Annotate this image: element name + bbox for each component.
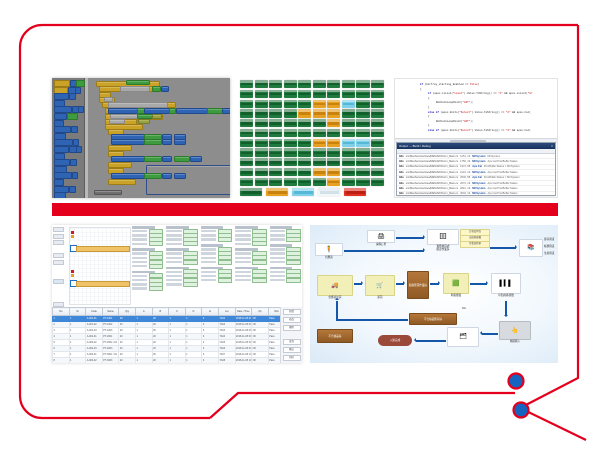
designer-canvas[interactable] — [69, 227, 131, 305]
log-row-list[interactable]: Infosrc/MesService/Area/MES/API/Form_Mai… — [397, 154, 555, 197]
status-cell[interactable] — [313, 100, 326, 108]
flow-diagram-panel[interactable]: 🖨 採購訂單 🧍 供應商 🗄 實際收貨處 確認作業區 訂單及時性 出貨單建檔 作… — [310, 225, 558, 363]
log-code: MCSystem — [472, 192, 485, 195]
status-cell[interactable] — [313, 139, 326, 147]
status-cell[interactable] — [313, 129, 326, 137]
log-tag: Info — [399, 171, 404, 174]
status-cell[interactable] — [327, 168, 340, 176]
status-grid-row — [240, 109, 384, 117]
log-code: Apx.Cal — [472, 165, 482, 168]
status-cell[interactable] — [298, 168, 311, 176]
status-cell[interactable] — [342, 119, 355, 127]
status-grid-row — [240, 178, 384, 186]
log-tag: Info — [399, 192, 404, 195]
log-line: 1251, 19 — [460, 155, 470, 158]
arrowhead-icon — [480, 331, 482, 335]
desk-icon: 🗄 — [439, 234, 447, 240]
table-cell[interactable]: 1 — [185, 358, 202, 364]
table-header-cell[interactable]: Name — [102, 308, 119, 316]
table-header-cell[interactable]: St — [69, 308, 86, 316]
status-cell[interactable] — [371, 139, 384, 147]
status-cell[interactable] — [342, 80, 355, 88]
log-message: Apx.Cal.ProcBuffer.Status — [487, 192, 517, 195]
table-cell[interactable]: 1 — [169, 358, 186, 364]
log-path: src/MesService/Area/MES/API/Form_Main.cs — [406, 176, 458, 179]
table-header-cell[interactable]: No — [53, 308, 70, 316]
content-plate: if (bertray_starting_Enabled == false) {… — [52, 75, 558, 365]
arrow-order-to-receiving — [396, 237, 424, 239]
status-cell[interactable] — [327, 119, 340, 127]
status-cell[interactable] — [313, 168, 326, 176]
status-cell[interactable] — [356, 109, 369, 117]
log-line: 2121, 19 — [460, 171, 470, 174]
close-icon[interactable]: ✕ — [551, 145, 553, 148]
designer-toolbar[interactable] — [53, 227, 67, 305]
table-cell[interactable]: A-003-02 — [86, 358, 103, 364]
status-cell[interactable] — [371, 148, 384, 156]
log-path: src/MesService/Area/MES/API/Form_Main.cs — [406, 160, 458, 163]
status-cell[interactable] — [284, 158, 297, 166]
table-header-cell[interactable]: C — [169, 308, 186, 316]
status-cell[interactable] — [255, 129, 268, 137]
status-cell[interactable] — [284, 129, 297, 137]
legend-chip-orange — [266, 188, 288, 196]
status-cell[interactable] — [298, 158, 311, 166]
log-tag: Info — [399, 155, 404, 158]
side-button[interactable]: 刪除 — [283, 325, 301, 331]
tray-icon: 🟩 — [452, 281, 459, 287]
arrow-receiving-to-erp — [490, 247, 516, 249]
blocks-canvas[interactable] — [88, 78, 230, 198]
node-label: 點收理貨作業區 — [409, 284, 427, 287]
side-button[interactable]: 列印 — [283, 355, 301, 361]
person-icon: 🧍 — [325, 247, 332, 253]
log-path: src/MesService/Area/MES/API/Form_Main.cs — [406, 187, 458, 190]
status-cell[interactable] — [327, 148, 340, 156]
status-cell[interactable] — [255, 168, 268, 176]
status-cell[interactable] — [342, 129, 355, 137]
status-cell[interactable] — [284, 80, 297, 88]
node-reject-area[interactable]: 不合格品暫存區 — [410, 313, 456, 325]
status-grid-row — [240, 90, 384, 98]
status-cell[interactable] — [342, 109, 355, 117]
log-path: src/MesService/Area/MES/API/Form_Main.cs — [406, 155, 458, 158]
status-cell[interactable] — [356, 168, 369, 176]
table-cell[interactable]: 0 — [202, 358, 219, 364]
frame-dot-lower — [514, 403, 529, 418]
log-message: Apx.Cal.ProcBuffer.Status — [487, 160, 517, 163]
status-cell[interactable] — [356, 139, 369, 147]
status-cell[interactable] — [356, 80, 369, 88]
status-cell[interactable] — [240, 139, 253, 147]
data-table[interactable]: NoStCodeNameQtyABCDELotDate / TimeOpRslt… — [52, 307, 302, 363]
status-cell[interactable] — [284, 178, 297, 186]
forklift-icon: 🛒 — [376, 283, 383, 289]
status-cell[interactable] — [342, 90, 355, 98]
log-tag: Info — [399, 182, 404, 185]
node-label: 不合格品區 — [329, 335, 342, 338]
node-label: 採購訂單 — [376, 243, 386, 246]
log-line: 1750, 19 — [460, 160, 470, 163]
status-cell[interactable] — [371, 158, 384, 166]
table-header-cell[interactable]: Code — [86, 308, 103, 316]
status-cell[interactable] — [342, 148, 355, 156]
log-path: src/MesService/Area/MES/API/Form_Main.cs — [406, 171, 458, 174]
status-cell[interactable] — [255, 90, 268, 98]
node-label: 供應商 — [325, 256, 333, 259]
status-cell[interactable] — [255, 119, 268, 127]
status-cell[interactable] — [356, 129, 369, 137]
blocks-palette[interactable] — [52, 78, 85, 198]
table-body[interactable]: 11A-001-01PT-1001201201107A012018-11-05 … — [53, 316, 302, 364]
node-qc[interactable]: 🟩 料盤檢驗 — [444, 273, 468, 297]
log-tag: Info — [399, 187, 404, 190]
status-cell[interactable] — [327, 100, 340, 108]
table-header-cell[interactable]: B — [152, 308, 169, 316]
data-grid[interactable]: NoStCodeNameQtyABCDELotDate / TimeOpRslt… — [52, 307, 302, 363]
log-line: 1974, 58 — [460, 165, 470, 168]
arrowhead-icon — [438, 281, 440, 285]
log-code: MCSystem — [472, 155, 485, 158]
status-cell[interactable] — [255, 139, 268, 147]
log-code: MCSystem — [472, 160, 485, 163]
status-cell[interactable] — [371, 80, 384, 88]
status-cell[interactable] — [327, 80, 340, 88]
grid-side-buttons[interactable]: 新增 修改 刪除 查詢 匯出 列印 — [280, 307, 302, 363]
status-cell[interactable] — [269, 80, 282, 88]
log-line: 2812, 19 — [460, 187, 470, 190]
status-cell[interactable] — [298, 148, 311, 156]
status-cell[interactable] — [313, 158, 326, 166]
status-grid-panel[interactable] — [238, 78, 386, 198]
arrow-scan-to-putaway — [482, 333, 498, 335]
log-code: MCSystem — [472, 182, 485, 185]
spreadsheet-panel[interactable]: NoStCodeNameQtyABCDELotDate / TimeOpRslt… — [52, 225, 302, 363]
table-cell[interactable]: PT-3003 — [102, 358, 119, 364]
truck-icon: 🚚 — [331, 283, 338, 289]
status-cell[interactable] — [269, 178, 282, 186]
status-cell[interactable] — [298, 129, 311, 137]
status-cell[interactable] — [298, 80, 311, 88]
status-grid-row — [240, 119, 384, 127]
node-barcode[interactable]: ▌▍▌ 印貼條碼標籤 — [492, 273, 520, 297]
table-header-cell[interactable]: D — [185, 308, 202, 316]
code-text-area[interactable]: if (bertray_starting_Enabled == false) {… — [395, 79, 557, 143]
side-button[interactable]: 匯出 — [283, 347, 301, 353]
table-cell[interactable]: 7A08 — [218, 358, 235, 364]
slide-canvas: if (bertray_starting_Enabled == false) {… — [0, 0, 600, 450]
status-cell[interactable] — [371, 100, 384, 108]
status-grid-row — [240, 129, 384, 137]
ng-label: NG — [462, 307, 466, 310]
arrow-rejectarea-to-left — [336, 319, 408, 321]
designer-property-columns[interactable] — [132, 226, 301, 305]
printer-icon: 🖨 — [377, 234, 385, 240]
status-cell[interactable] — [255, 109, 268, 117]
log-row[interactable]: Infosrc/MesService/Area/MES/API/Form_Mai… — [397, 192, 555, 197]
status-cell[interactable] — [313, 80, 326, 88]
arrowhead-icon — [515, 245, 517, 249]
hand-scan-icon: 👆 — [511, 328, 518, 334]
status-cell[interactable] — [371, 90, 384, 98]
log-message: Apx.Cal.ProcBuffer.Status — [487, 187, 517, 190]
status-cell[interactable] — [298, 109, 311, 117]
status-cell[interactable] — [356, 148, 369, 156]
code-editor-panel[interactable]: if (bertray_starting_Enabled == false) {… — [394, 78, 558, 198]
status-cell[interactable] — [356, 90, 369, 98]
node-label: 實際收貨處 確認作業區 — [437, 245, 450, 251]
status-cell[interactable] — [255, 158, 268, 166]
status-cell[interactable] — [240, 168, 253, 176]
arrow-supplier-to-receiving — [344, 250, 424, 252]
arrowhead-icon — [423, 235, 425, 239]
log-window-title: Output — Build / Debug — [399, 144, 431, 148]
arrowhead-icon — [335, 298, 339, 300]
table-header-cell[interactable]: Date / Time — [235, 308, 252, 316]
status-cell[interactable] — [371, 119, 384, 127]
status-cell[interactable] — [240, 178, 253, 186]
status-cell[interactable] — [371, 178, 384, 186]
status-cell[interactable] — [327, 109, 340, 117]
table-header-cell[interactable]: Lot — [218, 308, 235, 316]
table-cell[interactable]: 1 — [69, 358, 86, 364]
status-cell[interactable] — [313, 109, 326, 117]
table-header-cell[interactable]: E — [202, 308, 219, 316]
status-cell[interactable] — [284, 90, 297, 98]
log-message: MCSystem — [487, 155, 500, 158]
status-cell[interactable] — [284, 109, 297, 117]
log-message: Apx.Cal.ProcBuffer.Status — [487, 182, 517, 185]
side-button[interactable]: 查詢 — [283, 339, 301, 345]
status-cell[interactable] — [240, 109, 253, 117]
tag-right-1: 帳務資訊 — [544, 244, 554, 248]
status-cell[interactable] — [269, 129, 282, 137]
status-cell[interactable] — [255, 178, 268, 186]
status-cell[interactable] — [269, 148, 282, 156]
node-putaway[interactable]: 🗂 — [448, 327, 478, 347]
server-icon: 📚 — [527, 245, 534, 251]
node-scan[interactable]: 👆 條碼刷入 — [500, 321, 530, 343]
status-cell[interactable] — [284, 168, 297, 176]
status-cell[interactable] — [313, 119, 326, 127]
status-cell[interactable] — [313, 148, 326, 156]
node-label: 入庫完成 — [390, 339, 400, 342]
status-grid-legend — [240, 188, 366, 196]
arrow-putaway-to-done — [416, 340, 446, 342]
table-cell[interactable]: 20 — [119, 358, 136, 364]
status-grid-row — [240, 139, 384, 147]
side-button[interactable]: 修改 — [283, 317, 301, 323]
status-cell[interactable] — [240, 80, 253, 88]
status-cell[interactable] — [240, 158, 253, 166]
log-tag: Info — [399, 160, 404, 163]
log-window[interactable]: Output — Build / Debug ✕ Infosrc/MesServ… — [396, 142, 556, 196]
status-cell[interactable] — [269, 90, 282, 98]
legend-chip-green — [240, 188, 262, 196]
status-cell[interactable] — [255, 148, 268, 156]
table-header-cell[interactable]: Op — [252, 308, 269, 316]
log-line: 2673, 19 — [460, 182, 470, 185]
status-cell[interactable] — [356, 119, 369, 127]
log-message: ProcBuffer.Status = MCSystem — [484, 176, 520, 179]
status-grid-row — [240, 158, 384, 166]
log-path: src/MesService/Area/MES/API/Form_Main.cs — [406, 192, 458, 195]
arrowhead-icon — [504, 315, 508, 317]
log-message: Apx.Cal.ProcBuffer.Status — [487, 171, 517, 174]
status-cell[interactable] — [298, 178, 311, 186]
status-cell[interactable] — [327, 129, 340, 137]
status-grid-row — [240, 80, 384, 88]
status-cell[interactable] — [284, 100, 297, 108]
tag-right-2: 生產資訊 — [544, 251, 554, 255]
status-cell[interactable] — [327, 90, 340, 98]
status-cell[interactable] — [240, 90, 253, 98]
arrow-qc-to-barcode — [470, 283, 487, 285]
status-cell[interactable] — [255, 80, 268, 88]
status-cell[interactable] — [371, 109, 384, 117]
arrowhead-icon — [486, 281, 488, 285]
arrow-barcode-to-scan — [505, 301, 507, 316]
status-cell[interactable] — [356, 100, 369, 108]
status-grid-row — [240, 148, 384, 156]
status-cell[interactable] — [284, 148, 297, 156]
log-line: 3004, 19 — [460, 192, 470, 195]
status-cell[interactable] — [298, 100, 311, 108]
status-cell[interactable] — [240, 100, 253, 108]
status-cell[interactable] — [371, 168, 384, 176]
status-cell[interactable] — [255, 100, 268, 108]
log-tag: Info — [399, 165, 404, 168]
layout-designer-area[interactable] — [52, 225, 302, 307]
arrowhead-icon — [423, 248, 425, 252]
table-cell[interactable]: 2018-11-05 10:15 — [235, 358, 252, 364]
shelf-icon: 🗂 — [459, 334, 467, 340]
table-cell[interactable]: OK — [252, 358, 269, 364]
node-unload[interactable]: 🛒 卸貨 — [366, 275, 394, 299]
table-header-row: NoStCodeNameQtyABCDELotDate / TimeOpRslt… — [53, 308, 302, 316]
status-cell[interactable] — [313, 178, 326, 186]
status-cell[interactable] — [298, 90, 311, 98]
log-message: ProcBuffer.Status = MCSystem — [484, 165, 520, 168]
log-line: 2549, 58 — [460, 176, 470, 179]
status-cell[interactable] — [298, 119, 311, 127]
node-supplier[interactable]: 🧍 供應商 — [316, 243, 342, 259]
legend-chip-red — [344, 188, 366, 196]
status-cell[interactable] — [240, 129, 253, 137]
status-cell[interactable] — [327, 139, 340, 147]
status-grid-row — [240, 100, 384, 108]
node-inspect[interactable]: 點收理貨作業區 — [408, 271, 428, 299]
status-cell[interactable] — [269, 119, 282, 127]
legend-chip-white — [318, 188, 340, 196]
arrow-reject-up — [336, 301, 338, 320]
blocks-editor-panel[interactable] — [52, 78, 230, 198]
log-code: Apx.Cal — [472, 176, 482, 179]
status-cell[interactable] — [240, 148, 253, 156]
node-delivery[interactable]: 🚚 供應商送貨 — [318, 275, 352, 299]
status-cell[interactable] — [298, 139, 311, 147]
status-cell[interactable] — [356, 178, 369, 186]
status-cell[interactable] — [327, 178, 340, 186]
status-cell[interactable] — [327, 158, 340, 166]
status-cell[interactable] — [284, 139, 297, 147]
node-label: 印貼條碼標籤 — [498, 294, 514, 297]
node-reject[interactable]: 不合格品區 — [318, 329, 352, 343]
red-divider-band — [52, 203, 558, 216]
tag-top-2: 作業流程單 — [460, 241, 490, 248]
status-cell[interactable] — [342, 100, 355, 108]
arrowhead-icon — [414, 338, 416, 342]
node-order[interactable]: 🖨 採購訂單 — [368, 230, 394, 246]
table-cell[interactable]: 20 — [152, 358, 169, 364]
tag-right-0: 庫存資訊 — [544, 237, 554, 241]
node-receiving[interactable]: 🗄 實際收貨處 確認作業區 — [428, 229, 458, 251]
side-button[interactable]: 新增 — [283, 309, 301, 315]
node-erp[interactable]: 📚 — [520, 239, 542, 257]
log-tag: Info — [399, 176, 404, 179]
status-cell[interactable] — [269, 168, 282, 176]
status-cell[interactable] — [269, 109, 282, 117]
log-code: MCSystem — [472, 171, 485, 174]
status-cell[interactable] — [313, 90, 326, 98]
table-header-cell[interactable]: A — [135, 308, 152, 316]
status-cell[interactable] — [342, 178, 355, 186]
status-cell[interactable] — [356, 158, 369, 166]
barcode-icon: ▌▍▌ — [499, 281, 512, 287]
status-grid-row — [240, 168, 384, 176]
status-cell[interactable] — [342, 158, 355, 166]
node-label: 卸貨 — [377, 296, 382, 299]
node-done[interactable]: 入庫完成 — [378, 335, 412, 346]
table-cell[interactable]: 8 — [53, 358, 70, 364]
status-cell[interactable] — [240, 119, 253, 127]
status-cell[interactable] — [342, 168, 355, 176]
log-path: src/MesService/Area/MES/API/Form_Main.cs — [406, 182, 458, 185]
table-row[interactable]: 81A-003-02PT-3003201201107A082018-11-05 … — [53, 358, 302, 364]
status-grid[interactable] — [240, 80, 384, 174]
arrowhead-icon — [361, 281, 363, 285]
node-label: 條碼刷入 — [510, 340, 520, 343]
status-cell[interactable] — [269, 100, 282, 108]
status-cell[interactable] — [269, 158, 282, 166]
arrowhead-icon — [403, 281, 405, 285]
status-cell[interactable] — [269, 139, 282, 147]
node-label: 料盤檢驗 — [451, 294, 461, 297]
node-label: 不合格品暫存區 — [424, 318, 442, 321]
table-cell[interactable]: 1 — [135, 358, 152, 364]
status-cell[interactable] — [342, 139, 355, 147]
status-cell[interactable] — [371, 129, 384, 137]
log-path: src/MesService/Area/MES/API/Form_Main.cs — [406, 165, 458, 168]
frame-dot-upper — [509, 374, 524, 389]
table-header-cell[interactable]: Qty — [119, 308, 136, 316]
legend-chip-cyan — [292, 188, 314, 196]
log-code: MCSystem — [472, 187, 485, 190]
status-cell[interactable] — [284, 119, 297, 127]
